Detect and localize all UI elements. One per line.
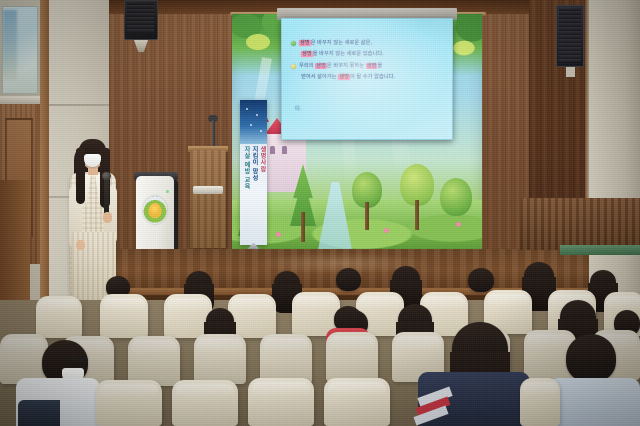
green-rail <box>560 245 640 255</box>
eyeglasses-icon <box>72 358 88 362</box>
audience-head <box>566 334 616 382</box>
slide-bullet: 우리의 생명은 바꾸지 못하는 생명을 <box>291 62 449 70</box>
castle-window <box>282 146 287 154</box>
mural-tree-trunk <box>301 212 305 242</box>
castle-window <box>270 146 275 154</box>
door-jamb <box>40 0 49 300</box>
slide-line: 얻어서 살아가는 생명이 될 수가 없습니다. <box>301 73 395 81</box>
presenter-hand <box>103 212 112 223</box>
mural-tree-trunk <box>365 202 369 230</box>
chair <box>520 378 560 426</box>
audience-head <box>468 268 494 292</box>
audience-head <box>186 271 212 295</box>
student-backpack <box>18 400 60 426</box>
led-indicator-icon <box>166 190 169 193</box>
chair <box>194 334 246 384</box>
audience-head <box>524 262 554 290</box>
banner-footnote: 학 교 생 명 지 킴 이 <box>240 146 242 237</box>
bullet-green-icon <box>291 41 296 46</box>
audience-head <box>336 268 361 291</box>
window-reflection <box>3 10 17 80</box>
roll-up-banner: 생명사랑 지킴이 양성 자살 예방 교육 학 교 생 명 지 킴 이 <box>240 100 267 245</box>
banner-headline: 생명사랑 <box>259 146 266 237</box>
slide-line-wrap: 생명을 바꾸지 않는 새로운 있습니다. <box>291 50 449 58</box>
chair <box>96 380 162 426</box>
slide-tail: 다. <box>295 105 301 112</box>
microphone-head-icon <box>102 172 111 180</box>
audience-head <box>274 271 300 295</box>
mural-tree <box>440 178 472 216</box>
chair <box>172 380 238 426</box>
chair <box>248 378 314 426</box>
banner-sky-graphic <box>240 100 267 144</box>
banner-text-block: 생명사랑 지킴이 양성 자살 예방 교육 학 교 생 명 지 킴 이 <box>240 144 267 239</box>
student-light-blue-shirt <box>548 378 640 426</box>
projection-screen: 생명은 바꾸지 않는 새로운 삶은, 생명을 바꾸지 않는 새로운 있습니다. … <box>281 18 453 140</box>
chair <box>326 332 378 382</box>
banner-column: 자살 예방 교육 <box>243 146 250 237</box>
school-crest-center <box>149 203 161 217</box>
cabinet-tray <box>193 186 223 194</box>
slide-line: 생명은 바꾸지 않는 새로운 삶은, <box>299 39 372 47</box>
speaker-mount <box>566 67 575 77</box>
mural-tree-trunk <box>415 200 419 230</box>
slide-line: 우리의 생명은 바꾸지 못하는 생명을 <box>299 62 382 70</box>
auditorium-photo: 생명은 바꾸지 않는 새로운 삶은, 생명을 바꾸지 않는 새로운 있습니다. … <box>0 0 640 426</box>
pillar-seam <box>49 104 109 106</box>
chair <box>324 378 390 426</box>
audience-head <box>392 266 420 292</box>
bullet-yellow-icon <box>291 64 296 69</box>
chair <box>100 294 148 338</box>
mural-flower <box>384 228 389 233</box>
audience-head <box>590 270 616 294</box>
mural-flower <box>276 232 281 237</box>
right-cream-pillar <box>589 0 640 300</box>
audience-head <box>452 322 508 376</box>
speaker-grill <box>127 3 154 33</box>
banner-column: 지킴이 양성 <box>251 146 258 237</box>
chair <box>128 336 180 386</box>
audience-head <box>206 308 234 334</box>
slide-line-wrap: 얻어서 살아가는 생명이 될 수가 없습니다. <box>291 73 449 81</box>
slide-content: 생명은 바꾸지 않는 새로운 삶은, 생명을 바꾸지 않는 새로운 있습니다. … <box>291 39 449 84</box>
chair <box>260 334 312 384</box>
right-wainscot <box>520 198 640 250</box>
wooden-cabinet <box>190 150 226 248</box>
chair <box>0 334 48 384</box>
slide-line: 생명을 바꾸지 않는 새로운 있습니다. <box>301 50 384 58</box>
slide-bullet: 생명은 바꾸지 않는 새로운 삶은, <box>291 39 449 47</box>
mural-flower <box>456 222 461 227</box>
chair <box>36 296 82 338</box>
audience-head <box>560 300 596 334</box>
speaker-grill <box>559 9 581 61</box>
presenter-hand <box>76 240 85 250</box>
